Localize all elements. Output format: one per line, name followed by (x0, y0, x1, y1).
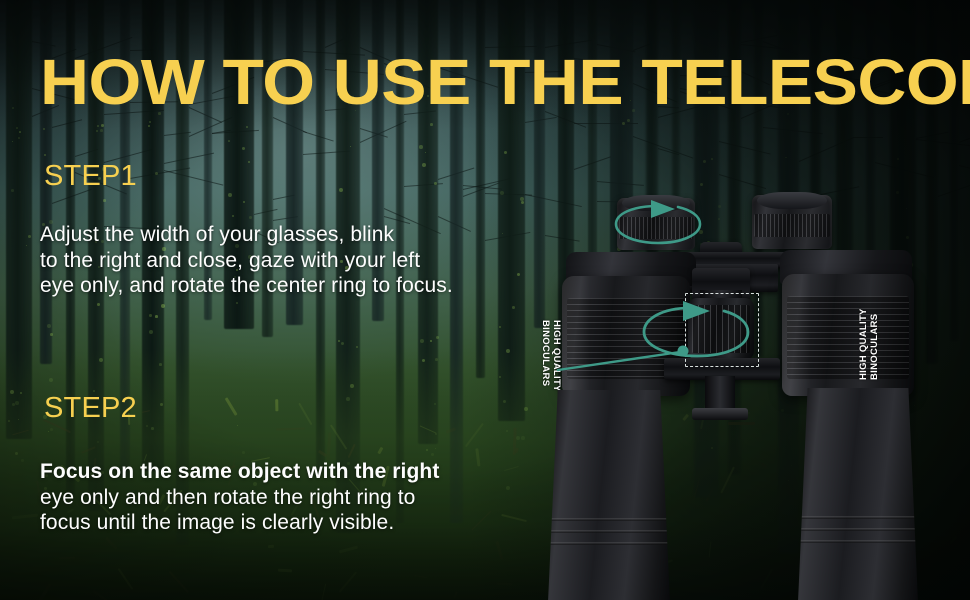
step-1-line-1: Adjust the width of your glasses, blink (40, 222, 453, 248)
step-2-line-2: eye only and then rotate the right ring … (40, 485, 439, 511)
step-2-body: Focus on the same object with the right … (40, 459, 439, 536)
center-focus-leader-dot (678, 346, 689, 357)
binoculars-product-image: HIGH QUALITY BINOCULARS HIGH QUALITY BIN… (540, 190, 970, 600)
step-2-line-1: Focus on the same object with the right (40, 459, 439, 485)
page-title: HOW TO USE THE TELESCOPE (40, 47, 970, 117)
step-2-label: STEP2 (44, 392, 137, 424)
step-2-line-3: focus until the image is clearly visible… (40, 510, 439, 536)
center-focus-leader-line (558, 352, 680, 370)
step-1-line-2: to the right and close, gaze with your l… (40, 248, 453, 274)
step-1-label: STEP1 (44, 160, 137, 192)
annotation-arrows-layer (540, 190, 970, 600)
step-1-body: Adjust the width of your glasses, blink … (40, 222, 453, 299)
eyepiece-rotation-arrowhead (651, 200, 675, 218)
step-1-line-3: eye only, and rotate the center ring to … (40, 273, 453, 299)
promo-banner: HOW TO USE THE TELESCOPE STEP1 Adjust th… (0, 0, 970, 600)
center-focus-rotation-arrowhead (683, 301, 710, 321)
